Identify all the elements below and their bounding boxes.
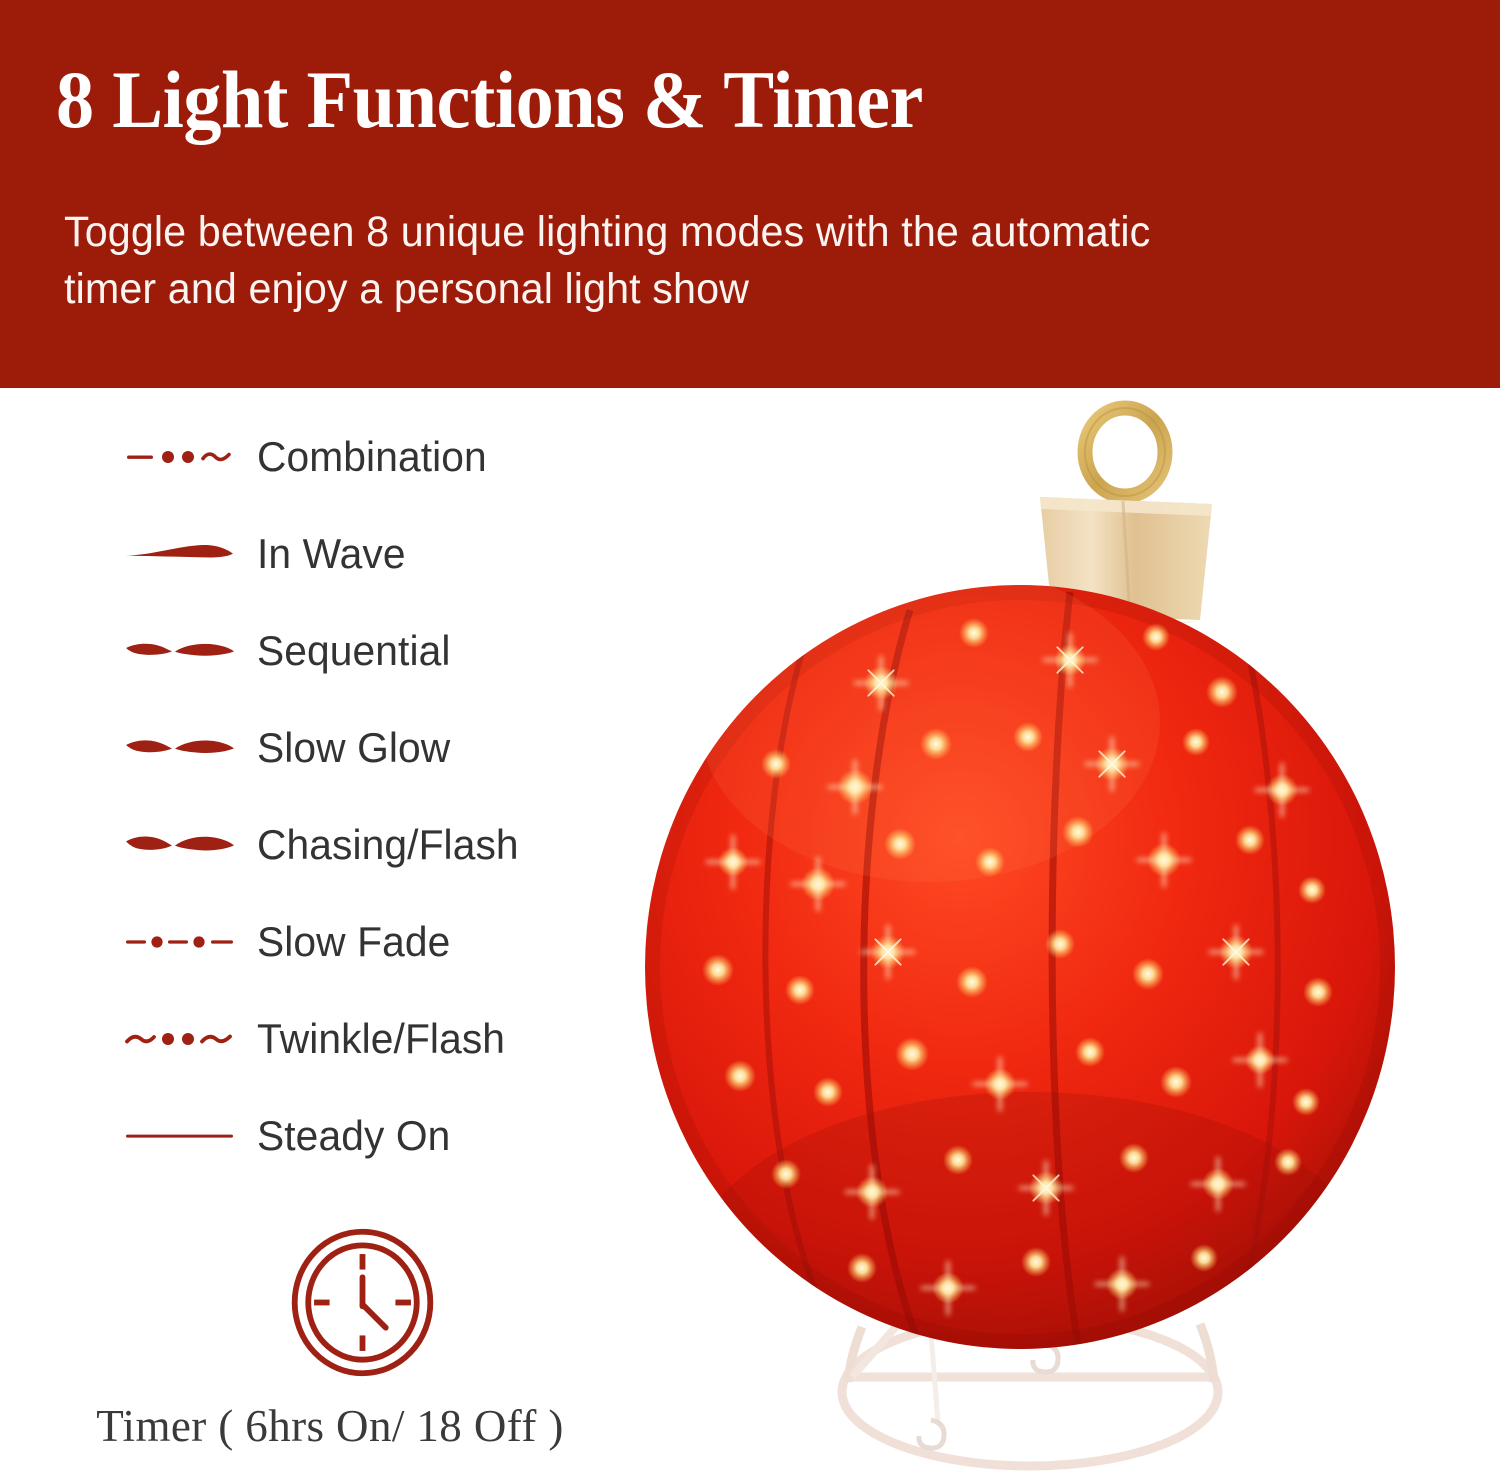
ornament-ring [1085,408,1165,496]
double-lens-icon [125,726,235,770]
timer-caption: Timer ( 6hrs On/ 18 Off ) [0,1400,660,1452]
dash-dot-dash-dot-dash-icon [125,920,235,964]
header-banner: 8 Light Functions & Timer Toggle between… [0,0,1500,388]
list-item: Slow Glow [0,718,456,778]
ornament-illustration [600,392,1500,1484]
list-item: Sequential [0,621,457,681]
list-item-label: Slow Fade [257,918,450,966]
page-title: 8 Light Functions & Timer [56,58,923,142]
list-item: Steady On [0,1106,456,1166]
solid-line-icon [125,1114,235,1158]
list-item: In Wave [0,524,410,584]
list-item: Chasing/Flash [0,815,527,875]
list-item: Combination [0,427,494,487]
clock-icon-wrapper [285,1225,440,1380]
list-item-label: Combination [257,433,487,481]
list-item-label: Slow Glow [257,724,450,772]
list-item: Slow Fade [0,912,456,972]
list-item-label: Sequential [257,627,451,675]
double-lens-icon [125,629,235,673]
page-subtitle: Toggle between 8 unique lighting modes w… [64,204,1216,318]
tilde-dot-dot-tilde-icon [125,1017,235,1061]
list-item-label: In Wave [257,530,406,578]
product-image [600,392,1500,1484]
double-lens-thick-icon [125,823,235,867]
light-functions-list: Combination In Wave Sequential Slow Glow… [0,388,620,1178]
single-long-lens-icon [125,532,235,576]
list-item-label: Chasing/Flash [257,821,519,869]
ornament-ball [645,562,1395,1452]
list-item: Twinkle/Flash [0,1009,513,1069]
dash-dot-dot-tilde-icon [125,435,235,479]
clock-icon [285,1225,440,1380]
list-item-label: Steady On [257,1112,450,1160]
list-item-label: Twinkle/Flash [257,1015,505,1063]
